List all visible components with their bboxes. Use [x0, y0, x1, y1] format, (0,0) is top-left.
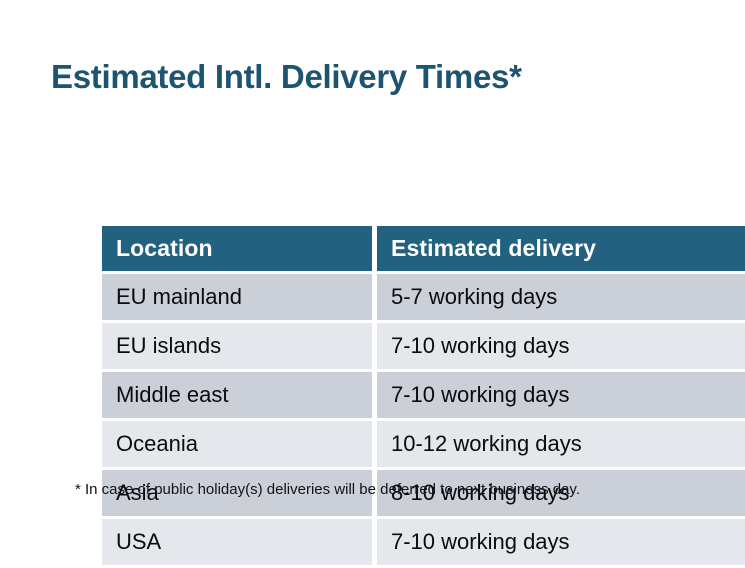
- cell-location: EU mainland: [102, 274, 372, 320]
- table-row: EU mainland 5-7 working days: [102, 274, 745, 320]
- table-header-row: Location Estimated delivery: [102, 226, 745, 271]
- page-title: Estimated Intl. Delivery Times*: [51, 58, 522, 96]
- cell-location: Middle east: [102, 372, 372, 418]
- table-row: Middle east 7-10 working days: [102, 372, 745, 418]
- table-row: Oceania 10-12 working days: [102, 421, 745, 467]
- cell-location: Oceania: [102, 421, 372, 467]
- table-row: EU islands 7-10 working days: [102, 323, 745, 369]
- cell-estimated-delivery: 7-10 working days: [377, 519, 745, 565]
- column-header-estimated-delivery: Estimated delivery: [377, 226, 745, 271]
- table-header: Location Estimated delivery: [102, 226, 745, 271]
- table-body: EU mainland 5-7 working days EU islands …: [102, 274, 745, 565]
- column-header-location: Location: [102, 226, 372, 271]
- cell-location: EU islands: [102, 323, 372, 369]
- cell-location: USA: [102, 519, 372, 565]
- cell-estimated-delivery: 7-10 working days: [377, 372, 745, 418]
- estimated-delivery-times-table: Location Estimated delivery EU mainland …: [97, 223, 745, 568]
- delivery-times-page: Estimated Intl. Delivery Times* Location…: [0, 0, 745, 536]
- cell-estimated-delivery: 7-10 working days: [377, 323, 745, 369]
- footnote: * In case of public holiday(s) deliverie…: [75, 481, 580, 498]
- table-row: USA 7-10 working days: [102, 519, 745, 565]
- cell-estimated-delivery: 5-7 working days: [377, 274, 745, 320]
- cell-estimated-delivery: 10-12 working days: [377, 421, 745, 467]
